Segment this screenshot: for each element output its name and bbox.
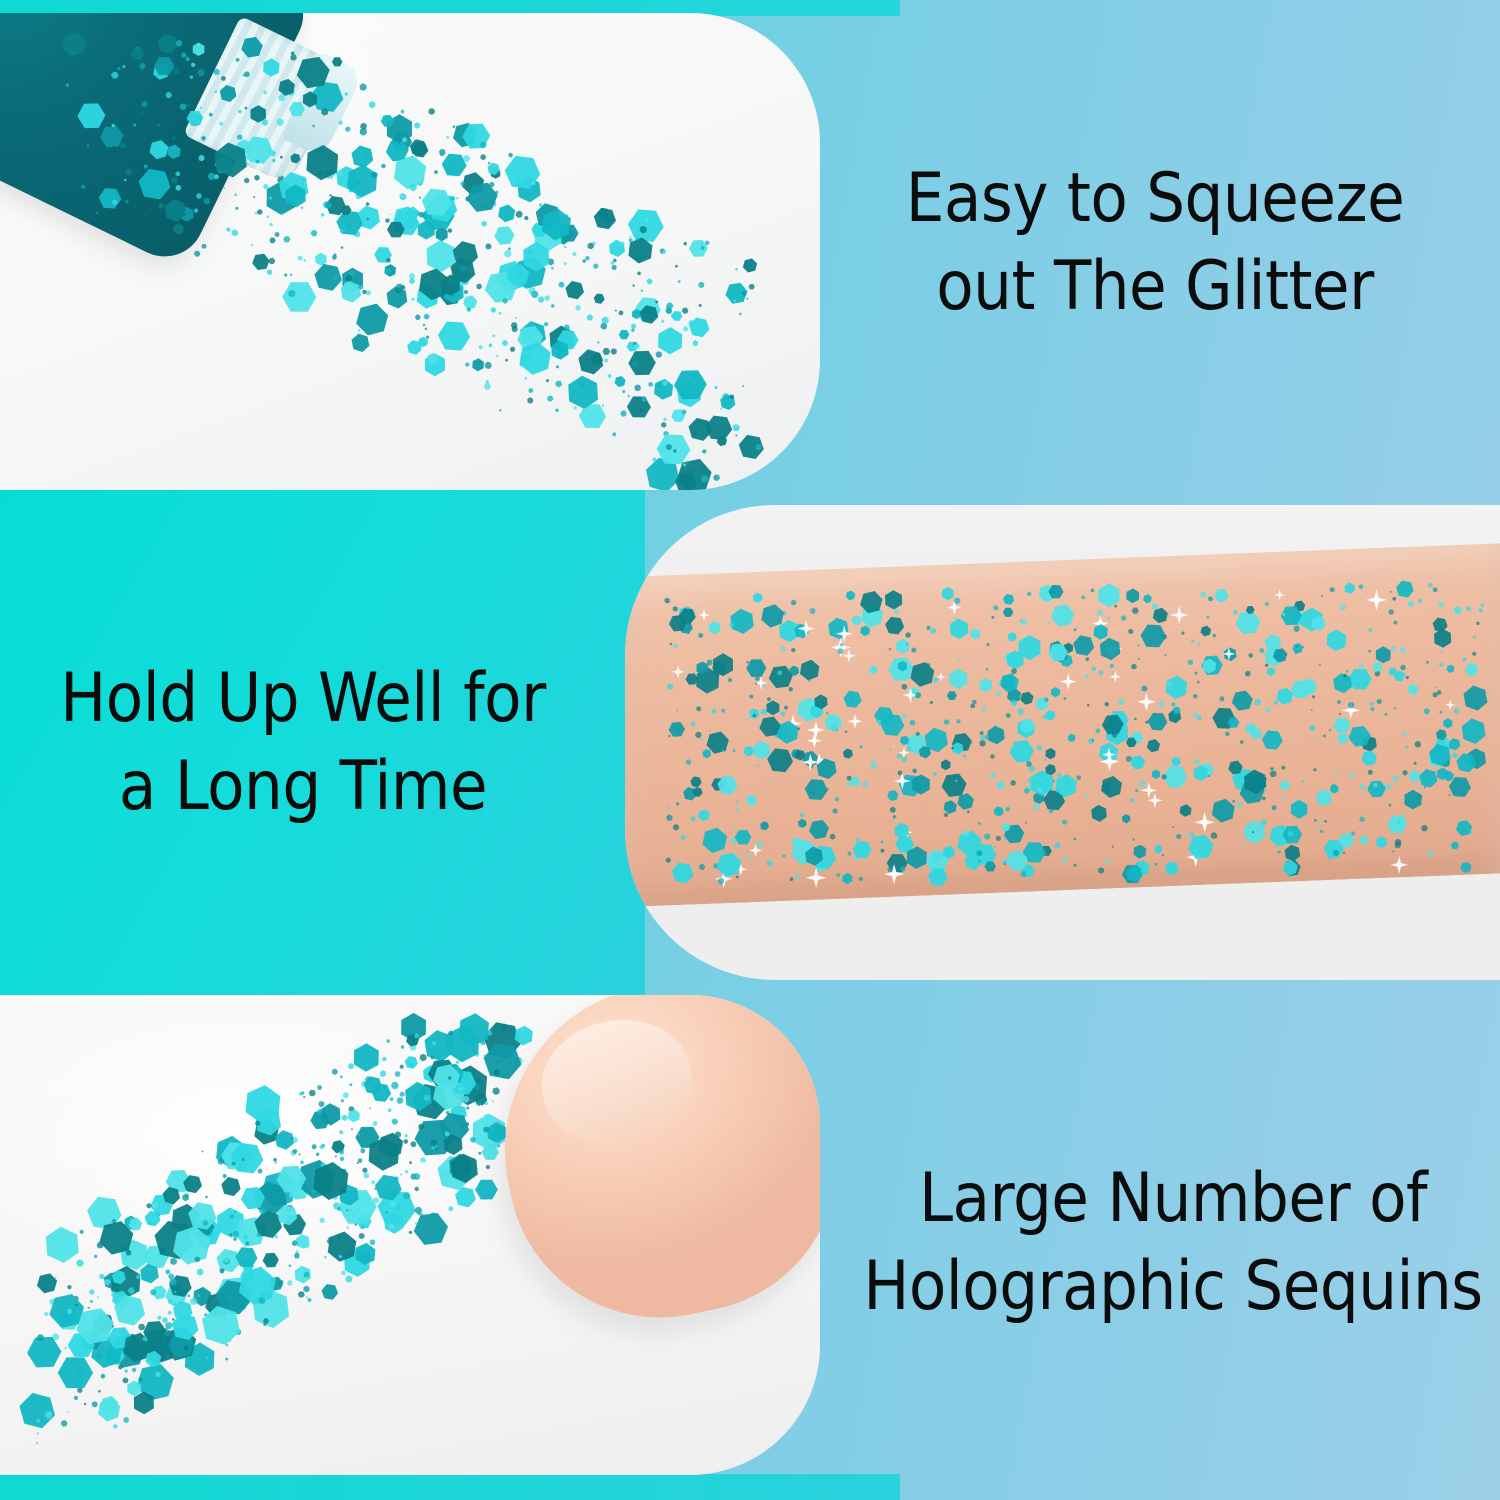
thumb-finger [474, 995, 820, 1346]
caption-line: Holographic Sequins [848, 1243, 1498, 1331]
caption-line: Easy to Squeeze [835, 155, 1475, 243]
accent-band-bottom [0, 1474, 900, 1500]
caption-hold-up-well: Hold Up Well for a Long Time [18, 655, 588, 832]
thumbnail-highlight [531, 1006, 702, 1153]
caption-easy-to-squeeze: Easy to Squeeze out The Glitter [835, 155, 1475, 332]
caption-line: a Long Time [18, 743, 588, 831]
caption-line: Hold Up Well for [18, 655, 588, 743]
caption-large-number-of-sequins: Large Number of Holographic Sequins [848, 1155, 1498, 1332]
product-feature-collage: Easy to Squeeze out The Glitter Hold Up … [0, 0, 1500, 1500]
caption-line: out The Glitter [835, 243, 1475, 331]
forearm-skin [625, 543, 1500, 907]
forearm-glitter-photo [625, 505, 1500, 980]
glitter-bottle-spill-photo [0, 13, 820, 490]
thumb-smear-glitter-photo [0, 995, 820, 1475]
caption-line: Large Number of [848, 1155, 1498, 1243]
